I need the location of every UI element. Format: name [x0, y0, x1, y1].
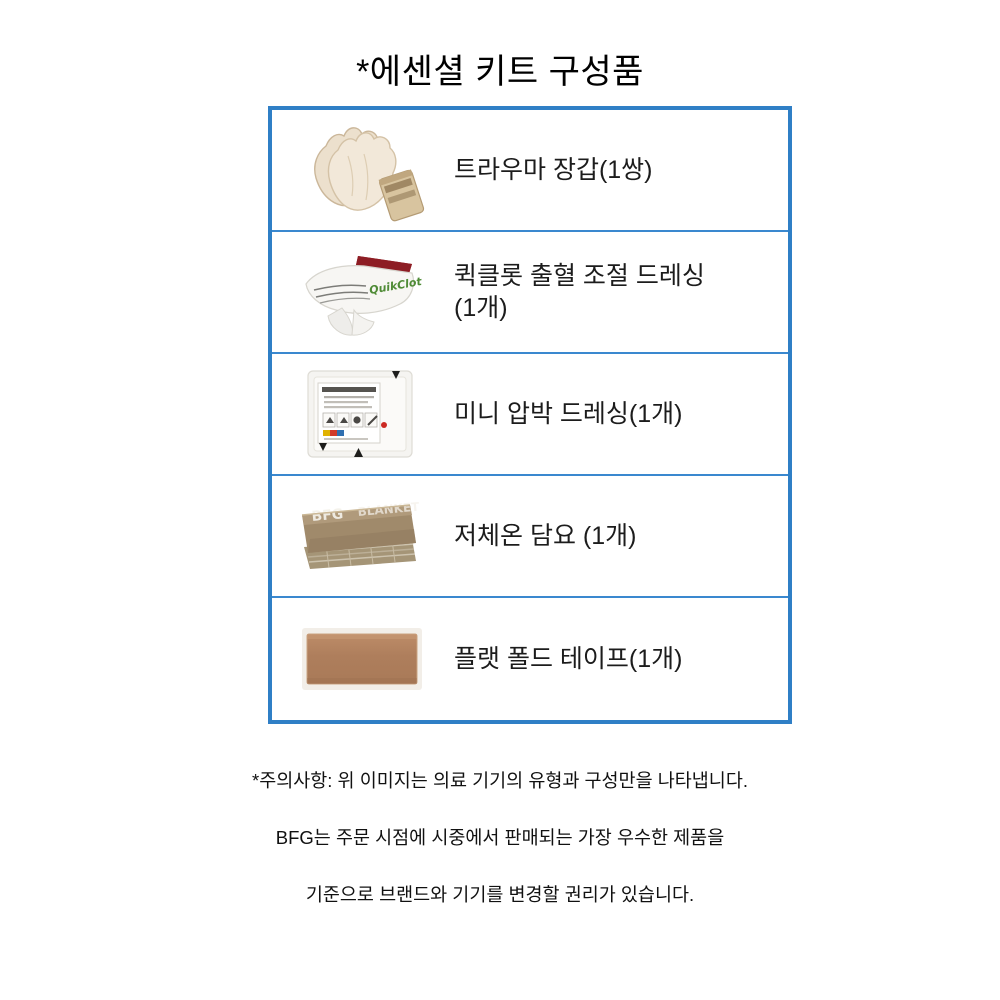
- trauma-gloves-image: [272, 109, 452, 231]
- kit-item-label: 미니 압박 드레싱(1개): [452, 398, 788, 430]
- footnote-disclaimer: *주의사항: 위 이미지는 의료 기기의 유형과 구성만을 나타냅니다. BFG…: [130, 738, 870, 939]
- kit-item-label: 저체온 담요 (1개): [452, 520, 788, 552]
- kit-item-label: 플랫 폴드 테이프(1개): [452, 643, 788, 675]
- footnote-line-2: BFG는 주문 시점에 시중에서 판매되는 가장 우수한 제품을: [130, 824, 870, 853]
- svg-text:BFG: BFG: [311, 506, 344, 525]
- footnote-line-1: *주의사항: 위 이미지는 의료 기기의 유형과 구성만을 나타냅니다.: [130, 767, 870, 796]
- flat-fold-tape-image: [272, 598, 452, 720]
- hypothermia-blanket-image: BFG BLANKET: [272, 475, 452, 597]
- table-row: QuikClot 퀵클롯 출혈 조절 드레싱(1개): [272, 232, 788, 354]
- page-title: *에센셜 키트 구성품: [0, 52, 1000, 93]
- kit-contents-table: 트라우마 장갑(1쌍): [268, 106, 792, 724]
- quikclot-dressing-image: QuikClot: [272, 231, 452, 353]
- table-row: BFG BLANKET 저체온 담요 (1개): [272, 476, 788, 598]
- table-row: 미니 압박 드레싱(1개): [272, 354, 788, 476]
- kit-item-label: 퀵클롯 출혈 조절 드레싱(1개): [452, 260, 756, 324]
- table-row: 트라우마 장갑(1쌍): [272, 110, 788, 232]
- page-root: *에센셜 키트 구성품: [0, 0, 1000, 1000]
- table-row: 플랫 폴드 테이프(1개): [272, 598, 788, 720]
- mini-compression-bandage-image: [272, 353, 452, 475]
- footnote-line-3: 기준으로 브랜드와 기기를 변경할 권리가 있습니다.: [130, 881, 870, 910]
- kit-item-label: 트라우마 장갑(1쌍): [452, 154, 788, 186]
